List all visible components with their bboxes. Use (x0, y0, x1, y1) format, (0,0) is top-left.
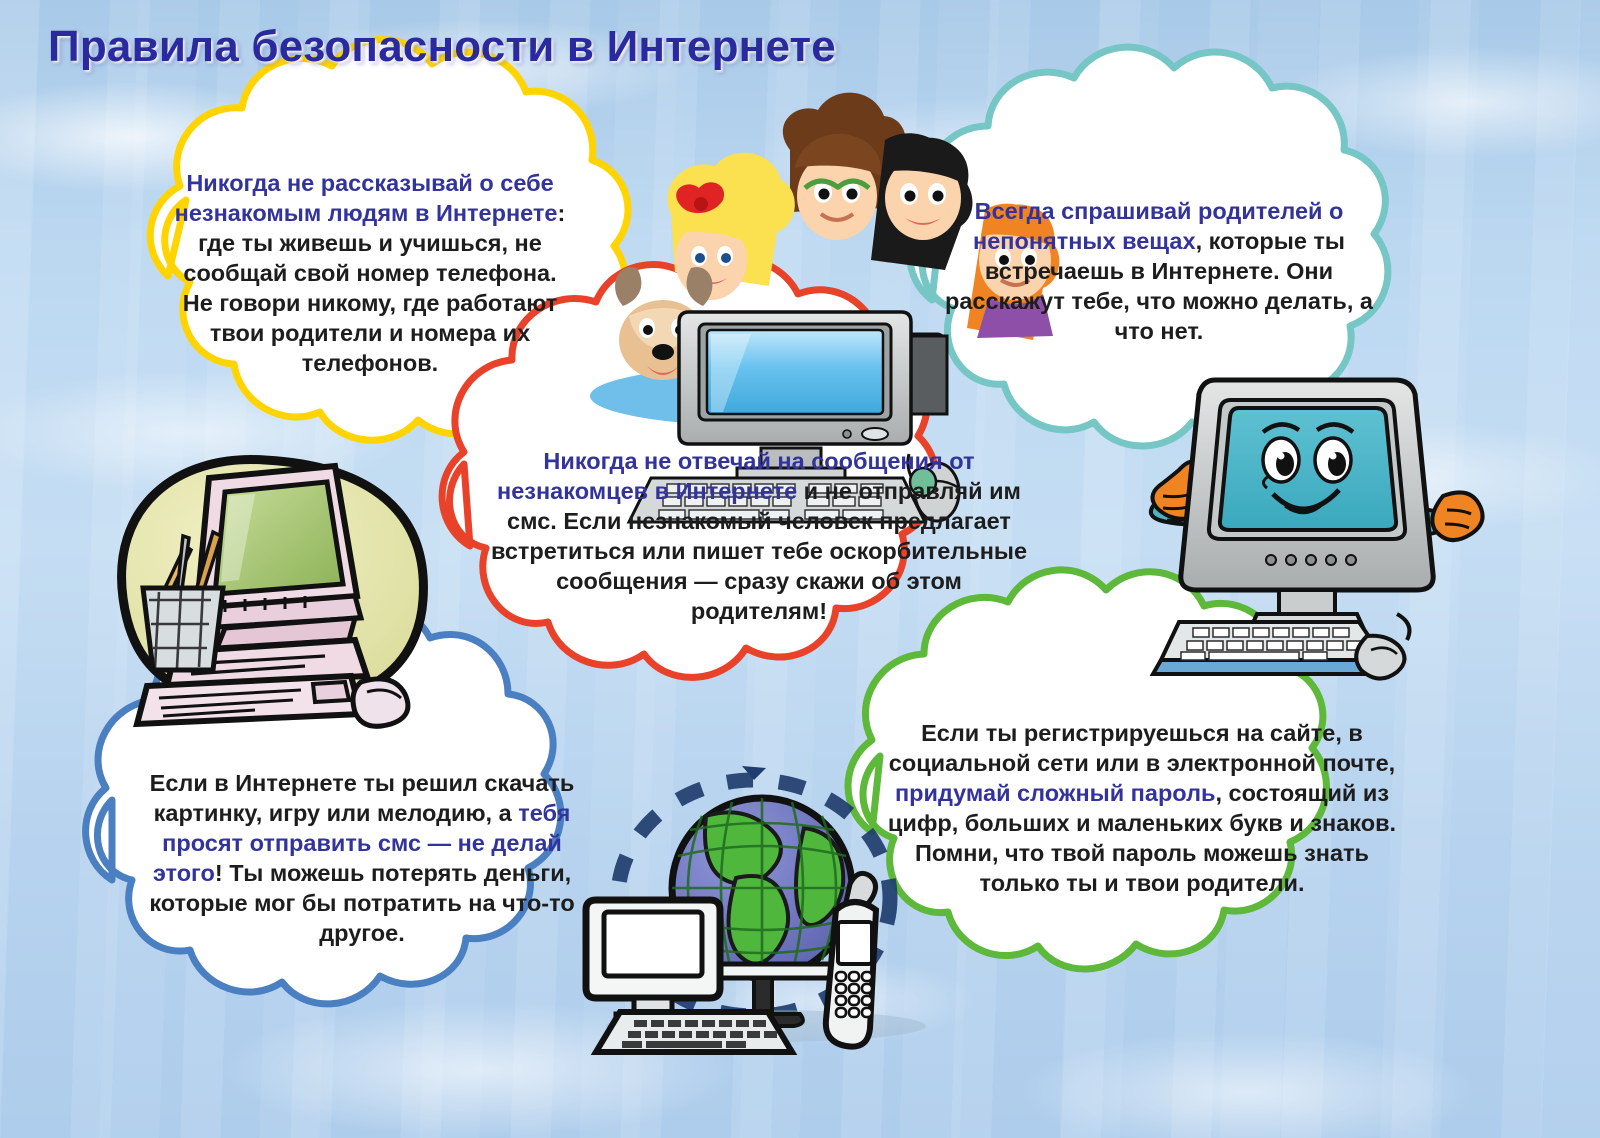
page-title: Правила безопасности в Интернете (48, 22, 836, 72)
mouse-icon (353, 679, 408, 726)
cloud-text-password: Если ты регистрируешься на сайте, в соци… (886, 718, 1398, 898)
pencil-cup-computer-illustration (122, 460, 424, 727)
keyboard-icon (596, 1012, 792, 1052)
monitor-icon (586, 900, 720, 1024)
poster-canvas: Правила безопасности в Интернете Никогда… (0, 0, 1600, 1138)
smiling-computer-mascot-illustration (1151, 380, 1483, 679)
cloud-text-personal-info: Никогда не рассказывай о себе незнакомым… (168, 168, 572, 379)
keyboard-icon (1153, 622, 1385, 674)
cloud-text-downloads-sms: Если в Интернете ты решил скачать картин… (130, 768, 594, 948)
cloud-text-ask-parents: Всегда спрашивай родителей о непонятных … (930, 196, 1388, 346)
mouse-icon (1356, 614, 1409, 679)
cloud-body-personal-info: : где ты живешь и учишься, не сообщай св… (183, 200, 566, 376)
cloud-lead-password: Если ты регистрируешься на сайте, в соци… (889, 720, 1395, 776)
cloud-text-never-reply: Никогда не отвечай на сообщения от незна… (486, 446, 1032, 626)
cloud-highlight-password: придумай сложный пароль (895, 780, 1215, 806)
keyboard-icon (137, 676, 361, 724)
cloud-lead-downloads-sms: Если в Интернете ты решил скачать картин… (150, 770, 575, 826)
computer-face-icon (1181, 380, 1433, 590)
desktop-computer-icon (197, 466, 361, 648)
cloud-highlight-personal-info: Никогда не рассказывай о себе незнакомым… (175, 170, 558, 226)
